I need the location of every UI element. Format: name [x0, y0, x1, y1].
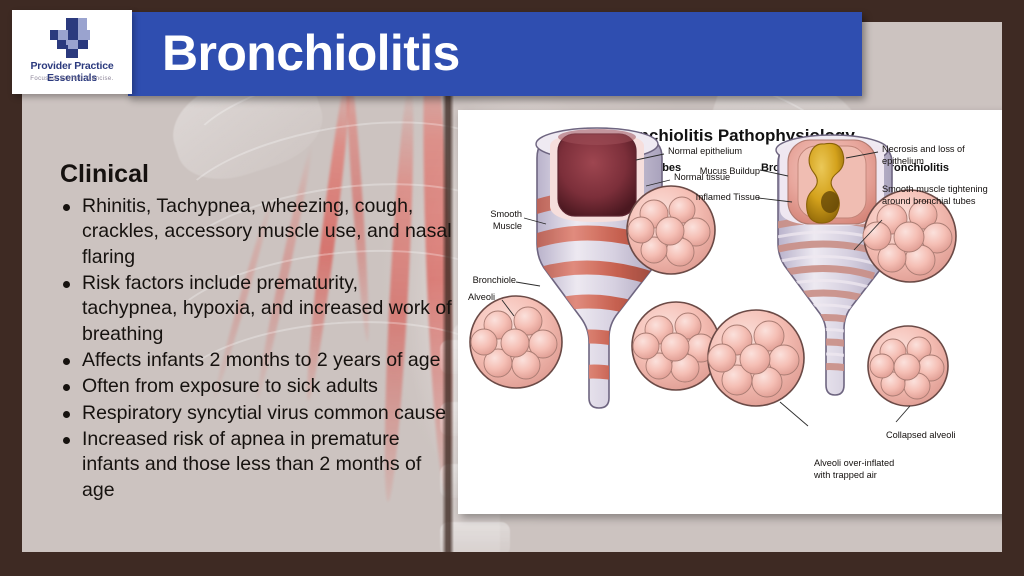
label-necrosis-line1: Necrosis and loss of: [882, 144, 965, 154]
list-item: Risk factors include prematurity, tachyp…: [60, 271, 452, 347]
slide-root: Clinical Rhinitis, Tachypnea, wheezing, …: [0, 0, 1024, 576]
label-alveoli-overinflated: Alveoli over-inflated with trapped air: [814, 458, 944, 481]
label-tightening-line1: Smooth muscle tightening: [882, 184, 988, 194]
diseased-bronchial-tube: [708, 135, 956, 426]
label-normal-epithelium: Normal epithelium: [668, 146, 742, 158]
label-tightening-line2: around bronchial tubes: [882, 196, 975, 206]
label-necrosis: Necrosis and loss of epithelium: [882, 144, 1000, 167]
label-collapsed-alveoli: Collapsed alveoli: [886, 430, 955, 442]
label-smooth-muscle: Smooth Muscle: [458, 209, 522, 232]
list-item: Often from exposure to sick adults: [60, 374, 452, 399]
label-overinflated-line2: with trapped air: [814, 470, 877, 480]
logo-card[interactable]: Provider Practice Essentials Focused. Cu…: [12, 10, 132, 94]
label-mucus-buildup: Mucus Buildup: [678, 166, 760, 178]
label-smooth-muscle-line1: Smooth: [490, 209, 522, 219]
list-item: Respiratory syncytial virus common cause: [60, 401, 452, 426]
label-smooth-muscle-tightening: Smooth muscle tightening around bronchia…: [882, 184, 1002, 207]
page-title: Bronchiolitis: [162, 24, 460, 82]
label-overinflated-line1: Alveoli over-inflated: [814, 458, 894, 468]
list-item: Increased risk of apnea in premature inf…: [60, 427, 452, 503]
slide-canvas: Clinical Rhinitis, Tachypnea, wheezing, …: [22, 22, 1002, 552]
label-bronchiole: Bronchiole: [458, 275, 516, 287]
list-item: Affects infants 2 months to 2 years of a…: [60, 348, 452, 373]
alveoli-cluster: [470, 296, 562, 388]
alveoli-cluster: [632, 302, 720, 390]
cross-logo-icon: [49, 17, 95, 59]
alveoli-cluster-collapsed: [868, 326, 948, 406]
label-alveoli: Alveoli: [468, 292, 495, 304]
clinical-heading: Clinical: [60, 160, 149, 189]
label-inflamed-tissue: Inflamed Tissue: [678, 192, 760, 204]
logo-tagline: Focused. Current. Concise.: [12, 76, 132, 82]
alveoli-cluster-overinflated: [708, 310, 804, 406]
clinical-bullet-list: Rhinitis, Tachypnea, wheezing, cough, cr…: [60, 194, 452, 504]
list-item: Rhinitis, Tachypnea, wheezing, cough, cr…: [60, 194, 452, 270]
label-necrosis-line2: epithelium: [882, 156, 924, 166]
label-smooth-muscle-line2: Muscle: [493, 221, 522, 231]
pathophysiology-figure-card: Bronchiolitis Pathophysiology Normal Bro…: [458, 110, 1002, 514]
title-banner: Bronchiolitis: [128, 12, 862, 96]
